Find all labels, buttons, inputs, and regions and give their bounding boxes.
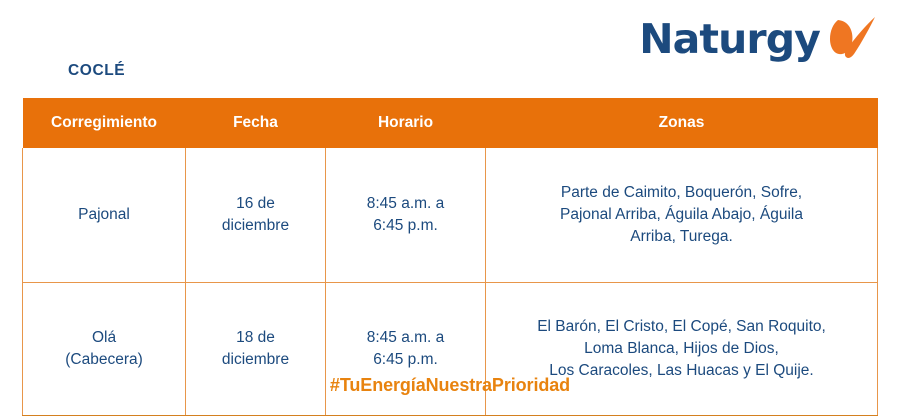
corregimiento-name: Pajonal [29, 204, 179, 226]
table-header-row: Corregimiento Fecha Horario Zonas [23, 98, 878, 148]
zonas-line-2: Loma Blanca, Hijos de Dios, [492, 338, 871, 360]
cell-corregimiento: Pajonal [23, 148, 186, 283]
zonas-line-2: Pajonal Arriba, Águila Abajo, Águila [492, 204, 871, 226]
cell-fecha: 16 de diciembre [186, 148, 326, 283]
brand-wordmark: Naturgy [639, 19, 820, 60]
horario-line-1: 8:45 a.m. a [332, 193, 479, 215]
fecha-line-1: 18 de [192, 327, 319, 349]
corregimiento-name: Olá [29, 327, 179, 349]
horario-line-2: 6:45 p.m. [332, 349, 479, 371]
table-row: Pajonal 16 de diciembre 8:45 a.m. a 6:45… [23, 148, 878, 283]
column-header-zonas: Zonas [486, 98, 878, 148]
naturgy-flame-icon [826, 14, 878, 64]
brand-logo: Naturgy [639, 14, 878, 64]
horario-line-1: 8:45 a.m. a [332, 327, 479, 349]
cell-horario: 8:45 a.m. a 6:45 p.m. [326, 148, 486, 283]
column-header-corregimiento: Corregimiento [23, 98, 186, 148]
outage-schedule-table: Corregimiento Fecha Horario Zonas Pajona… [22, 98, 878, 416]
fecha-line-2: diciembre [192, 349, 319, 371]
province-title: COCLÉ [68, 62, 125, 80]
zonas-line-1: Parte de Caimito, Boquerón, Sofre, [492, 182, 871, 204]
column-header-horario: Horario [326, 98, 486, 148]
fecha-line-1: 16 de [192, 193, 319, 215]
fecha-line-2: diciembre [192, 215, 319, 237]
column-header-fecha: Fecha [186, 98, 326, 148]
corregimiento-qualifier: (Cabecera) [29, 349, 179, 371]
zonas-line-1: El Barón, El Cristo, El Copé, San Roquit… [492, 316, 871, 338]
campaign-hashtag: #TuEnergíaNuestraPrioridad [0, 375, 900, 396]
cell-zonas: Parte de Caimito, Boquerón, Sofre, Pajon… [486, 148, 878, 283]
zonas-line-3: Arriba, Turega. [492, 226, 871, 248]
horario-line-2: 6:45 p.m. [332, 215, 479, 237]
